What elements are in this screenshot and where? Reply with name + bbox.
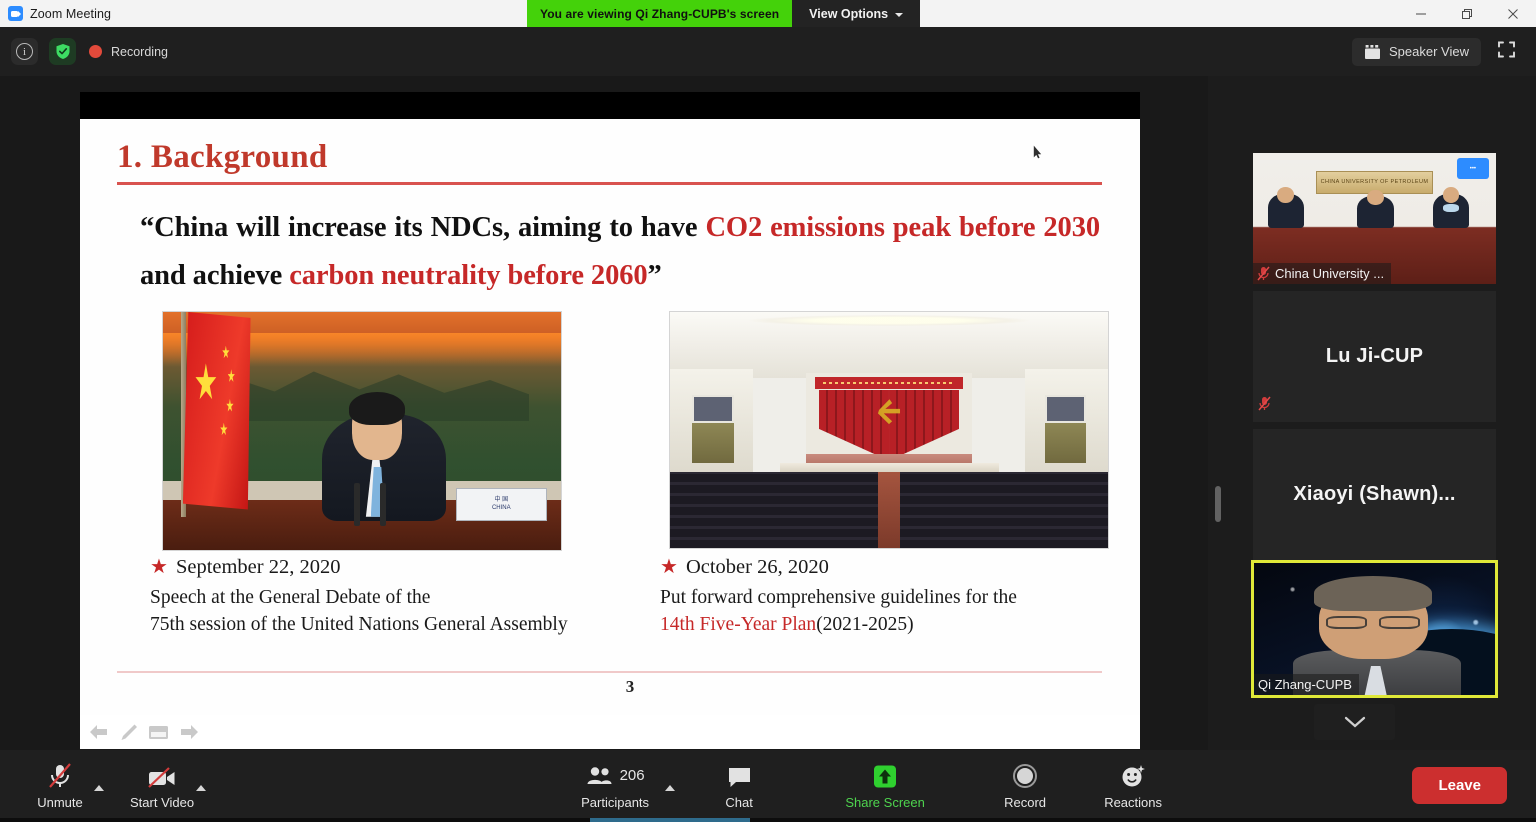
window-titlebar: Zoom Meeting You are viewing Qi Zhang-CU… <box>0 0 1536 27</box>
participants-label: Participants <box>581 795 649 810</box>
participant-mute-state <box>1258 396 1271 416</box>
participant-tile[interactable]: Lu Ji-CUP <box>1253 291 1496 422</box>
caption-left: ★ September 22, 2020 Speech at the Gener… <box>150 556 630 638</box>
strip-scroll-down-button[interactable] <box>1314 704 1395 740</box>
bottom-progress-bar <box>0 818 1536 822</box>
hall-red-banner <box>815 377 964 389</box>
reactions-button[interactable]: Reactions <box>1101 763 1165 810</box>
titlebar-left: Zoom Meeting <box>0 6 520 21</box>
leave-button[interactable]: Leave <box>1412 767 1507 804</box>
chat-button[interactable]: Chat <box>707 763 771 810</box>
mouse-cursor-icon <box>1033 145 1042 159</box>
video-off-icon <box>147 763 177 789</box>
start-video-label: Start Video <box>130 795 194 810</box>
mic-off-icon <box>1258 396 1271 411</box>
share-screen-label: Share Screen <box>845 795 925 810</box>
share-banner-group: You are viewing Qi Zhang-CUPB's screen V… <box>527 0 920 27</box>
participant-tile[interactable]: CHINA UNIVERSITY OF PETROLEUM ••• China … <box>1253 153 1496 284</box>
caption-left-date: September 22, 2020 <box>176 556 341 579</box>
chat-icon <box>727 763 752 789</box>
participant-name: Xiaoyi (Shawn)... <box>1253 429 1496 560</box>
share-screen-button[interactable]: Share Screen <box>835 763 935 810</box>
chat-label: Chat <box>725 795 752 810</box>
caption-left-line-2: 75th session of the United Nations Gener… <box>150 611 630 638</box>
unmute-button[interactable]: Unmute <box>28 763 92 810</box>
quote-close-mark: ” <box>648 260 662 291</box>
participant-name: Lu Ji-CUP <box>1253 291 1496 422</box>
share-screen-icon <box>872 763 898 789</box>
country-nameplate: 中 国 CHINA <box>456 488 548 521</box>
next-slide-icon[interactable] <box>178 723 200 741</box>
window-controls <box>1398 0 1536 27</box>
meeting-info-button[interactable]: i <box>11 38 38 65</box>
record-button[interactable]: Record <box>993 763 1057 810</box>
chevron-up-icon <box>94 768 104 791</box>
nameplate-cn: 中 国 <box>494 497 508 505</box>
quote-highlight-1: CO2 emissions peak before 2030 <box>705 212 1100 243</box>
title-underline <box>117 182 1102 185</box>
meeting-topbar: i Recording Speaker View <box>0 27 1536 76</box>
layout-icon <box>1364 44 1381 60</box>
fullscreen-icon <box>1497 40 1516 59</box>
viewing-screen-banner: You are viewing Qi Zhang-CUPB's screen <box>527 0 792 27</box>
info-icon: i <box>16 43 33 60</box>
reactions-icon <box>1120 763 1146 789</box>
star-icon: ★ <box>660 557 678 577</box>
slide-quote: “China will increase its NDCs, aiming to… <box>140 204 1100 300</box>
recording-indicator[interactable]: Recording <box>89 45 168 59</box>
participant-strip: CHINA UNIVERSITY OF PETROLEUM ••• China … <box>1228 76 1536 750</box>
mic-off-icon <box>47 763 73 789</box>
unmute-label: Unmute <box>37 795 83 810</box>
video-options-caret[interactable] <box>196 768 212 810</box>
participants-icon <box>586 766 613 786</box>
photo-xi-speech: 中 国 CHINA <box>162 311 562 551</box>
participant-tile-active-speaker[interactable]: Qi Zhang-CUPB <box>1251 560 1498 698</box>
chevron-up-icon <box>196 768 206 791</box>
participant-namebar: Qi Zhang-CUPB <box>1254 674 1359 695</box>
shield-icon <box>55 43 71 60</box>
slide-photos: 中 国 CHINA <box>80 311 1140 556</box>
restore-button[interactable] <box>1444 0 1490 27</box>
more-options-icon[interactable]: ••• <box>1457 158 1489 179</box>
view-options-label: View Options <box>809 7 888 21</box>
record-icon <box>1012 763 1038 789</box>
meeting-controls-bar: Unmute Start Video <box>0 750 1536 822</box>
caption-right-highlight: 14th Five-Year Plan <box>660 614 816 635</box>
encryption-button[interactable] <box>49 38 76 65</box>
footer-rule <box>117 671 1102 673</box>
record-label: Record <box>1004 795 1046 810</box>
window-title: Zoom Meeting <box>30 7 111 21</box>
caption-right: ★ October 26, 2020 Put forward comprehen… <box>660 556 1110 638</box>
zoom-meeting-window: Zoom Meeting You are viewing Qi Zhang-CU… <box>0 0 1536 822</box>
photo-plenary-hall <box>669 311 1109 549</box>
record-dot-icon <box>89 45 102 58</box>
speaker-view-button[interactable]: Speaker View <box>1352 38 1481 66</box>
participant-name: Qi Zhang-CUPB <box>1258 677 1352 692</box>
speaker-view-label: Speaker View <box>1389 44 1469 59</box>
prev-slide-icon[interactable] <box>88 723 110 741</box>
participants-count: 206 <box>620 767 645 784</box>
slide-page-number: 3 <box>80 677 1140 697</box>
minimize-button[interactable] <box>1398 0 1444 27</box>
star-icon: ★ <box>150 557 168 577</box>
caption-right-date: October 26, 2020 <box>686 556 829 579</box>
start-video-button[interactable]: Start Video <box>130 763 194 810</box>
nameplate-en: CHINA <box>492 505 511 513</box>
pen-icon[interactable] <box>119 723 139 741</box>
chevron-up-icon <box>665 768 675 791</box>
chevron-down-icon <box>1344 716 1366 729</box>
audio-options-caret[interactable] <box>94 768 110 810</box>
chevron-down-icon <box>895 13 903 17</box>
quote-part1: China will increase its NDCs, aiming to … <box>154 212 705 243</box>
participants-options-caret[interactable] <box>665 768 681 810</box>
slide-title: 1. Background <box>117 139 328 176</box>
caption-right-line-1: Put forward comprehensive guidelines for… <box>660 584 1110 611</box>
presentation-frame: 1. Background “China will increase its N… <box>80 92 1140 749</box>
caption-right-tail: (2021-2025) <box>816 614 913 635</box>
shared-screen-stage[interactable]: 1. Background “China will increase its N… <box>0 76 1208 750</box>
quote-open-mark: “ <box>140 212 154 243</box>
fullscreen-button[interactable] <box>1491 36 1522 68</box>
participant-namebar: China University ... <box>1253 263 1391 284</box>
hall-interior <box>670 312 1108 548</box>
panel-drag-handle[interactable] <box>1215 486 1221 522</box>
china-flag-icon <box>183 312 251 510</box>
quote-part2: and achieve <box>140 260 289 291</box>
slide-menu-icon[interactable] <box>148 724 169 741</box>
participant-name: China University ... <box>1275 266 1384 281</box>
zoom-logo-icon <box>8 6 23 21</box>
recording-label: Recording <box>111 45 168 59</box>
mic-off-icon <box>1257 266 1270 281</box>
reactions-label: Reactions <box>1104 795 1162 810</box>
topbar-right-group: Speaker View <box>1352 36 1536 68</box>
quote-highlight-2: carbon neutrality before 2060 <box>289 260 647 291</box>
participant-tile[interactable]: Xiaoyi (Shawn)... <box>1253 429 1496 560</box>
caption-left-line-1: Speech at the General Debate of the <box>150 584 630 611</box>
participants-button[interactable]: 206 Participants <box>567 763 663 810</box>
view-options-button[interactable]: View Options <box>792 0 920 27</box>
presenter-navbar <box>80 715 1140 749</box>
slide-content: 1. Background “China will increase its N… <box>80 119 1140 715</box>
participants-group: 206 <box>586 763 645 789</box>
close-button[interactable] <box>1490 0 1536 27</box>
